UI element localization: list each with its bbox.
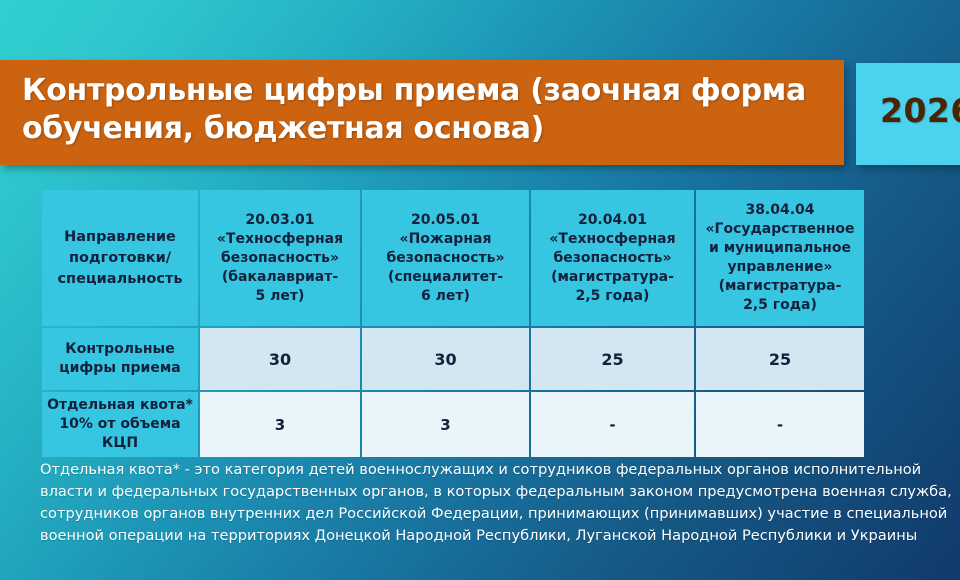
table-header-cell-2: 20.05.01 «Пожарная безопасность» (специа…	[362, 190, 529, 326]
year-badge: 2026	[856, 63, 960, 165]
year-label: 2026	[880, 91, 960, 130]
slide-canvas: Контрольные цифры приема (заочная форма …	[0, 0, 960, 580]
row-label-admission-figures: Контрольные цифры приема	[42, 328, 198, 390]
table-header-row: Направление подготовки/ специальность 20…	[42, 190, 864, 326]
cell-admission-figures-2: 30	[362, 328, 529, 390]
admission-table: Направление подготовки/ специальность 20…	[40, 188, 866, 459]
cell-separate-quota-4: -	[696, 392, 864, 457]
slide-title: Контрольные цифры приема (заочная форма …	[22, 72, 822, 148]
table-row: Отдельная квота* 10% от объема КЦП 3 3 -…	[42, 392, 864, 457]
title-band: Контрольные цифры приема (заочная форма …	[0, 60, 844, 165]
cell-separate-quota-1: 3	[200, 392, 360, 457]
admission-table-container: Направление подготовки/ специальность 20…	[40, 188, 860, 459]
table-header-cell-4: 38.04.04 «Государственное и муниципально…	[696, 190, 864, 326]
cell-admission-figures-1: 30	[200, 328, 360, 390]
table-row: Контрольные цифры приема 30 30 25 25	[42, 328, 864, 390]
cell-separate-quota-2: 3	[362, 392, 529, 457]
cell-admission-figures-3: 25	[531, 328, 694, 390]
cell-separate-quota-3: -	[531, 392, 694, 457]
row-label-separate-quota: Отдельная квота* 10% от объема КЦП	[42, 392, 198, 457]
table-header-cell-program: Направление подготовки/ специальность	[42, 190, 198, 326]
cell-admission-figures-4: 25	[696, 328, 864, 390]
footnote-text: Отдельная квота* - это категория детей в…	[40, 459, 952, 547]
table-header-cell-1: 20.03.01 «Техносферная безопасность» (ба…	[200, 190, 360, 326]
table-header-cell-3: 20.04.01 «Техносферная безопасность» (ма…	[531, 190, 694, 326]
